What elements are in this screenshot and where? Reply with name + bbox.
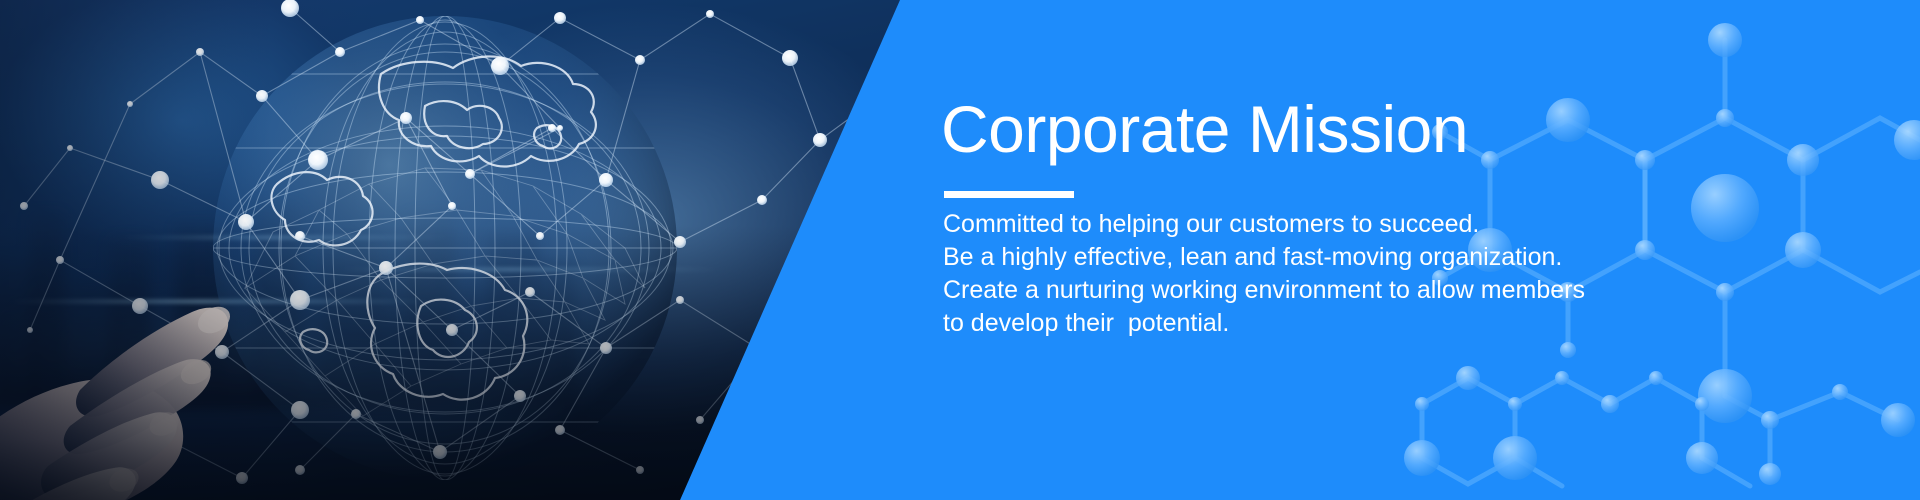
mission-line: Be a highly effective, lean and fast-mov… (943, 241, 1585, 274)
mission-line: Committed to helping our customers to su… (943, 208, 1585, 241)
page-title: Corporate Mission (941, 90, 1468, 168)
banner-content: Corporate Mission Committed to helping o… (941, 0, 1701, 500)
mission-statement-list: Committed to helping our customers to su… (943, 208, 1585, 340)
mission-line: Create a nurturing working environment t… (943, 274, 1585, 307)
corporate-mission-banner: Corporate Mission Committed to helping o… (0, 0, 1920, 500)
mission-line: to develop their potential. (943, 307, 1585, 340)
title-underline (944, 191, 1074, 198)
